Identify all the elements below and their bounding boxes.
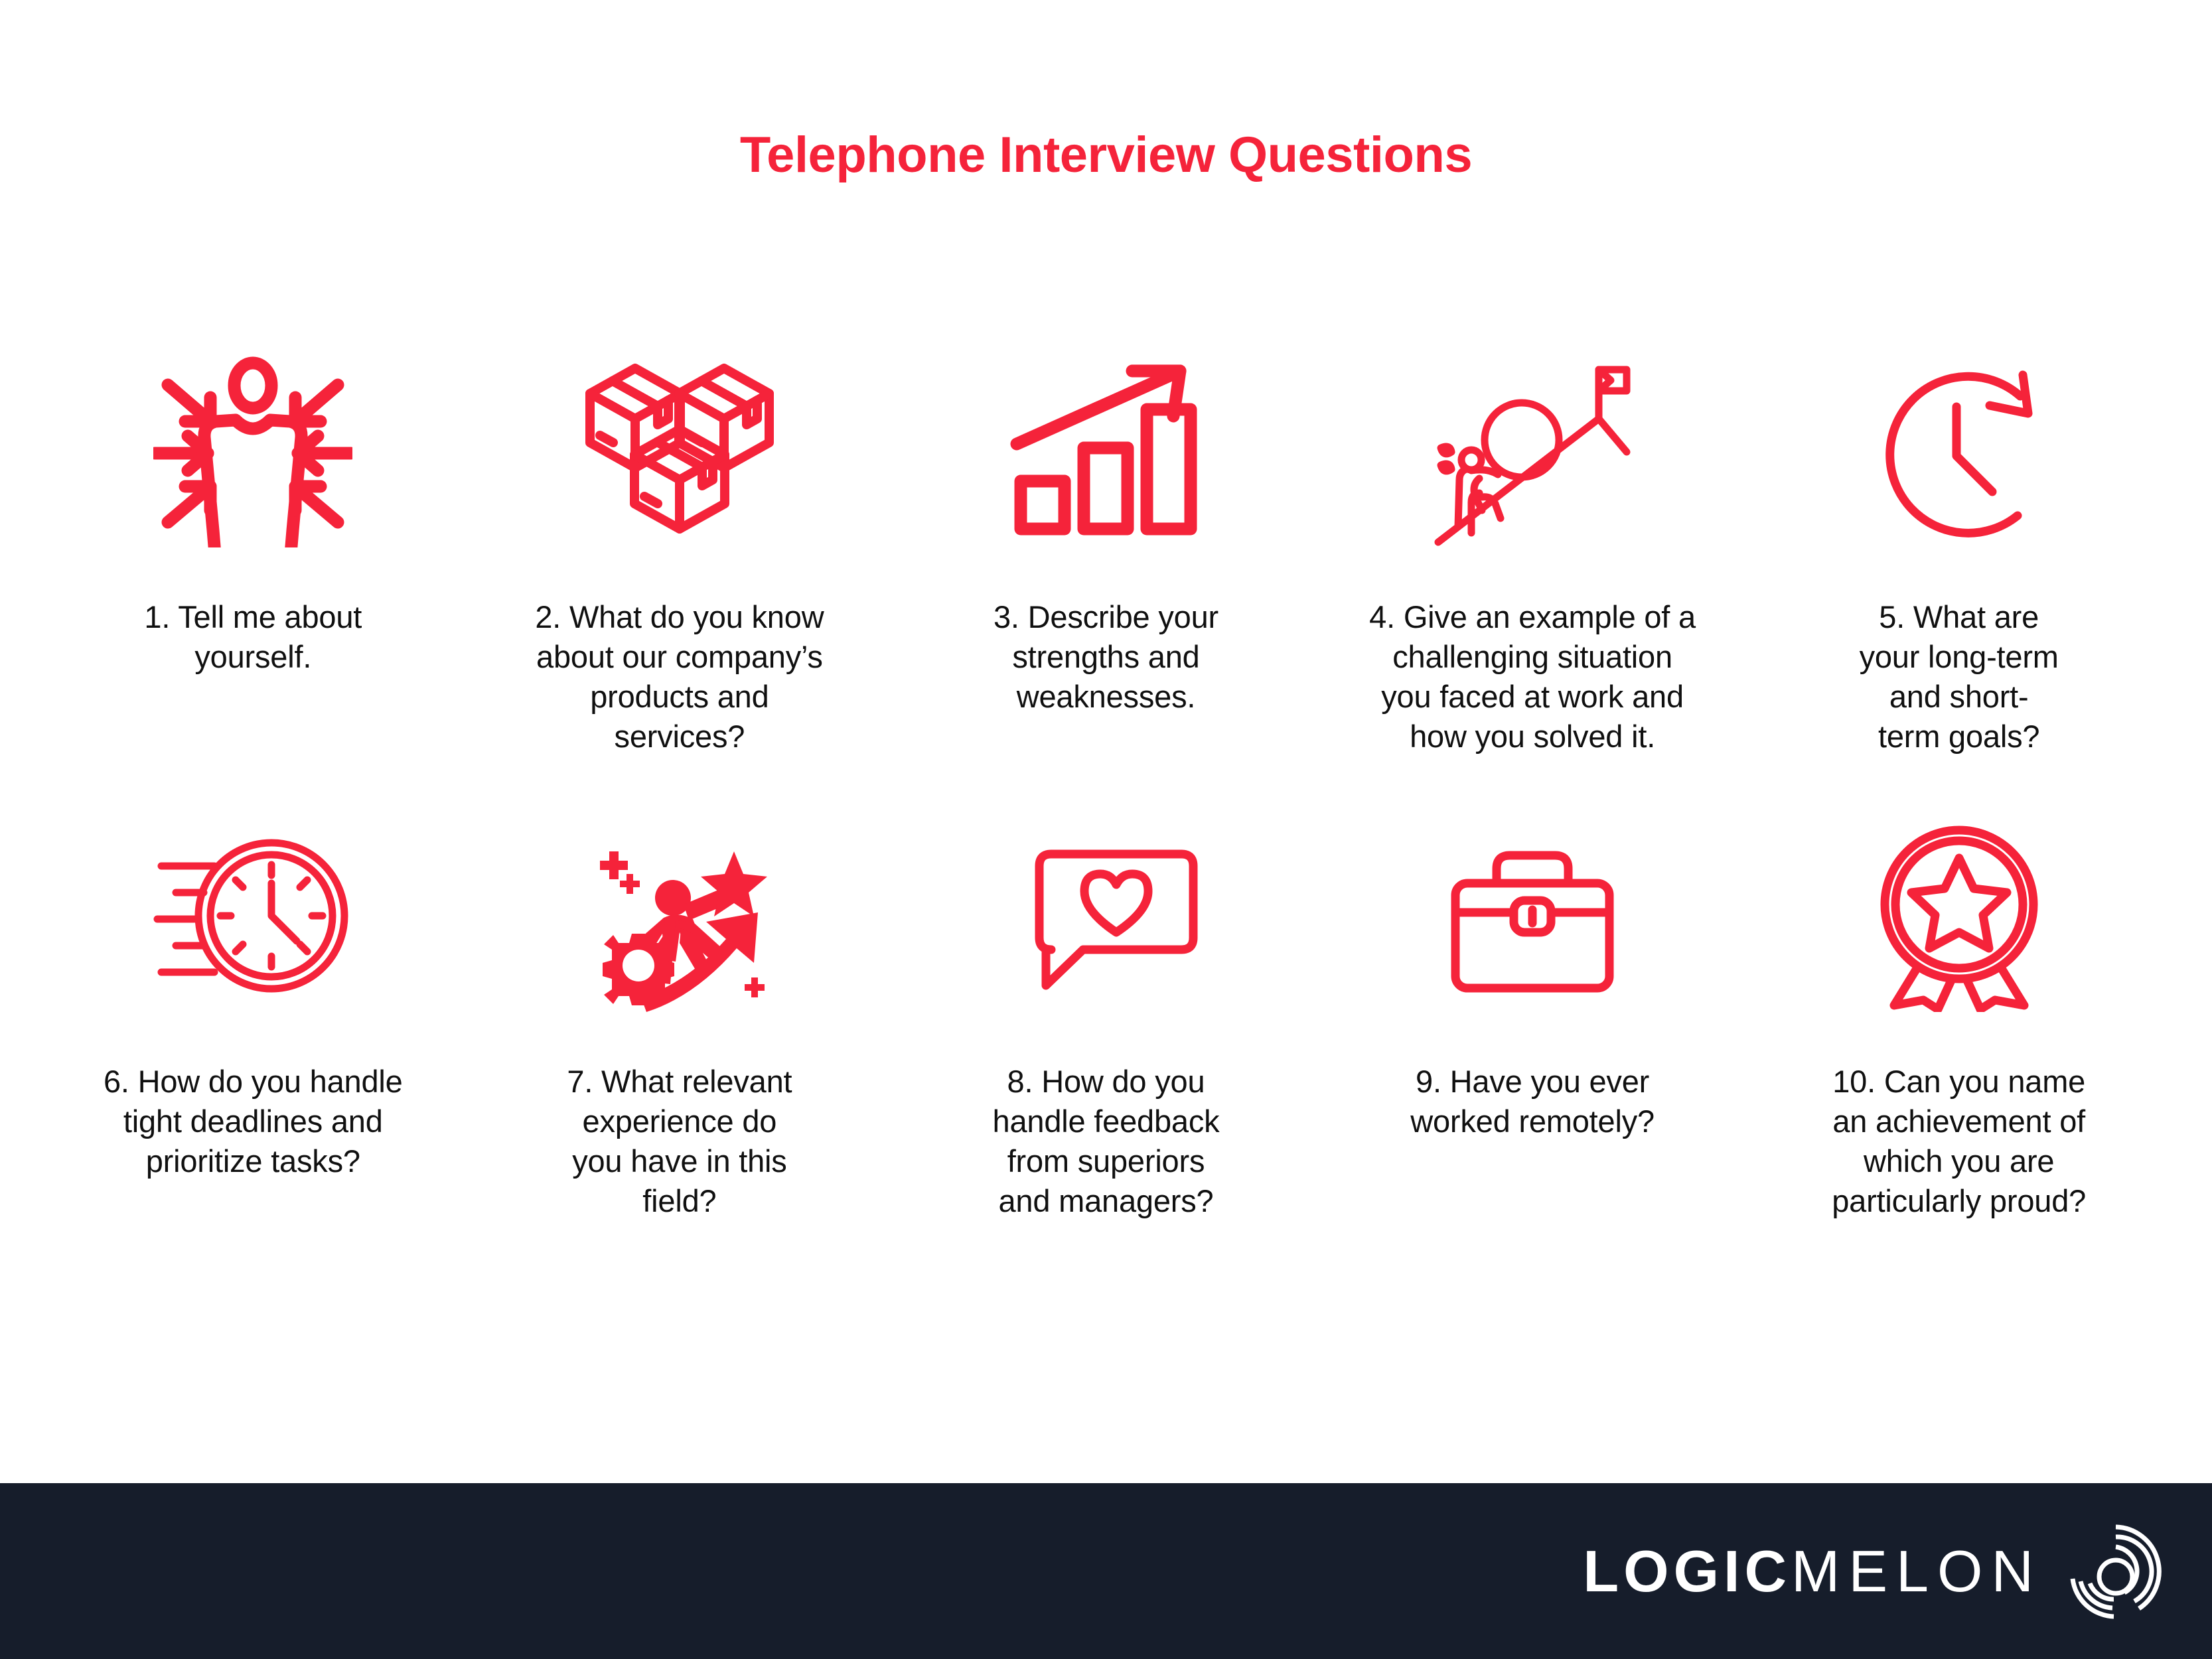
question-caption: 8. How do you handle feedback from super…	[993, 1062, 1220, 1222]
question-caption: 9. Have you ever worked remotely?	[1410, 1062, 1655, 1141]
person-arrows-inward-icon	[57, 305, 449, 597]
speech-bubble-heart-icon	[910, 770, 1302, 1062]
questions-grid: 1. Tell me about yourself.	[40, 305, 2172, 1261]
question-card-10: 10. Can you name an achievement of which…	[1745, 770, 2172, 1261]
clock-circular-arrow-icon	[1763, 305, 2155, 597]
questions-row-1: 1. Tell me about yourself.	[40, 305, 2172, 770]
question-card-7: 7. What relevant experience do you have …	[467, 770, 893, 1261]
page-title: Telephone Interview Questions	[0, 126, 2212, 184]
person-climbing-arrow-gear-star-icon	[484, 770, 876, 1062]
question-caption: 10. Can you name an achievement of which…	[1832, 1062, 2086, 1222]
question-caption: 6. How do you handle tight deadlines and…	[104, 1062, 403, 1181]
logo-melon-text: MELON	[1791, 1538, 2042, 1604]
question-card-2: 2. What do you know about our company’s …	[467, 305, 893, 770]
logo-wordmark: LOGICMELON	[1583, 1538, 2042, 1605]
question-card-4: 4. Give an example of a challenging situ…	[1319, 305, 1746, 770]
person-pushing-boulder-uphill-flag-icon	[1337, 305, 1729, 597]
footer-bar: LOGICMELON	[0, 1483, 2212, 1659]
logicmelon-logo[interactable]: LOGICMELON	[1583, 1522, 2166, 1621]
question-caption: 3. Describe your strengths and weaknesse…	[994, 597, 1218, 717]
question-card-1: 1. Tell me about yourself.	[40, 305, 467, 770]
award-ribbon-star-icon	[1763, 770, 2155, 1062]
question-caption: 1. Tell me about yourself.	[144, 597, 362, 677]
infographic-page: Telephone Interview Questions	[0, 0, 2212, 1659]
logo-logic-text: LOGIC	[1583, 1538, 1791, 1604]
briefcase-icon	[1337, 770, 1729, 1062]
question-card-8: 8. How do you handle feedback from super…	[893, 770, 1319, 1261]
question-caption: 4. Give an example of a challenging situ…	[1369, 597, 1696, 757]
question-card-3: 3. Describe your strengths and weaknesse…	[893, 305, 1319, 770]
question-card-9: 9. Have you ever worked remotely?	[1319, 770, 1746, 1261]
question-card-5: 5. What are your long-term and short- te…	[1745, 305, 2172, 770]
bar-chart-growth-icon	[910, 305, 1302, 597]
question-card-6: 6. How do you handle tight deadlines and…	[40, 770, 467, 1261]
questions-row-2: 6. How do you handle tight deadlines and…	[40, 770, 2172, 1261]
question-caption: 2. What do you know about our company’s …	[535, 597, 824, 757]
fast-clock-speed-lines-icon	[57, 770, 449, 1062]
question-caption: 5. What are your long-term and short- te…	[1860, 597, 2059, 757]
concentric-arcs-swirl-icon	[2066, 1522, 2166, 1621]
stacked-boxes-icon	[484, 305, 876, 597]
question-caption: 7. What relevant experience do you have …	[567, 1062, 792, 1222]
